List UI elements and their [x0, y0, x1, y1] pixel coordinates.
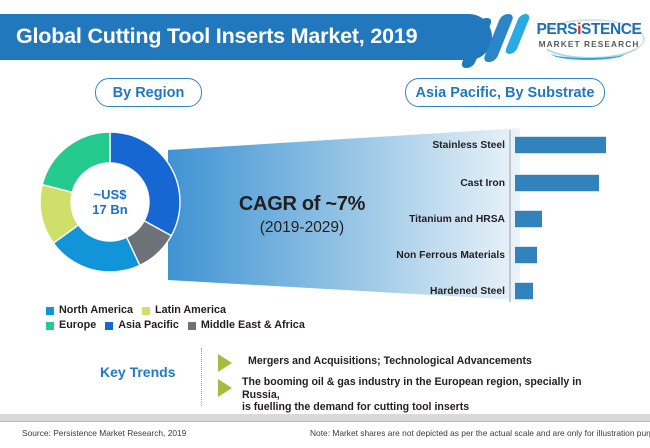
bar-row: Hardened Steel [392, 282, 650, 300]
legend-label-asia-pacific: Asia Pacific [118, 318, 179, 333]
legend-swatch-asia-pacific [105, 322, 113, 330]
footer-band [0, 414, 650, 421]
bar-label-hardened-steel: Hardened Steel [392, 286, 509, 297]
bar-row: Cast Iron [392, 174, 650, 192]
bar-row: Titanium and HRSA [392, 210, 650, 228]
key-trends-title: Key Trends [100, 364, 188, 380]
legend-label-middle-east-africa: Middle East & Africa [201, 318, 305, 333]
legend-label-europe: Europe [59, 318, 96, 333]
page-title: Global Cutting Tool Inserts Market, 2019 [16, 24, 476, 49]
legend-swatch-north-america [46, 307, 54, 315]
key-trends-section: Key Trends Mergers and Acquisitions; Tec… [100, 348, 620, 406]
header: Global Cutting Tool Inserts Market, 2019 [0, 14, 500, 60]
legend-swatch-latin-america [142, 307, 150, 315]
key-trend-item-1: Mergers and Acquisitions; Technological … [248, 355, 608, 368]
key-trend-item-2: The booming oil & gas industry in the Eu… [242, 376, 622, 414]
legend-item-europe: Europe [46, 318, 96, 333]
logo-subtitle: MARKET RESEARCH [533, 39, 645, 49]
cagr-text-block: CAGR of ~7% (2019-2029) [212, 193, 392, 237]
section-label-by-region: By Region [95, 78, 202, 107]
bar-label-titanium-and-hrsa: Titanium and HRSA [392, 214, 509, 225]
logo-word-part1: PERS [536, 21, 577, 38]
arrow-triangle-icon-1 [218, 354, 232, 372]
legend-row-2: Europe Asia Pacific Middle East & Africa [46, 318, 326, 333]
bar-stainless-steel [515, 136, 606, 154]
bar-titanium-and-hrsa [515, 210, 542, 228]
legend-item-middle-east-africa: Middle East & Africa [188, 318, 305, 333]
substrate-bar-chart: Stainless SteelCast IronTitanium and HRS… [392, 130, 650, 302]
legend-item-north-america: North America [46, 303, 133, 318]
company-logo: PERSiSTENCE MARKET RESEARCH [533, 17, 645, 59]
legend-swatch-europe [46, 322, 54, 330]
arrow-triangle-icon-2 [218, 379, 232, 397]
section-label-by-substrate: Asia Pacific, By Substrate [405, 78, 605, 107]
legend-label-north-america: North America [59, 303, 133, 318]
footer-divider [0, 421, 650, 422]
cagr-period: (2019-2029) [212, 219, 392, 237]
bar-row: Non Ferrous Materials [392, 246, 650, 264]
key-trends-divider [201, 348, 202, 406]
footer-source: Source: Persistence Market Research, 201… [22, 428, 186, 438]
logo-word-part2: STENCE [581, 21, 641, 38]
infographic-page: Global Cutting Tool Inserts Market, 2019… [0, 0, 650, 448]
logo-wordmark: PERSiSTENCE [533, 21, 645, 39]
bar-label-cast-iron: Cast Iron [392, 178, 509, 189]
donut-hole [71, 163, 149, 241]
legend-row-1: North America Latin America [46, 303, 326, 318]
region-donut-chart: ~US$ 17 Bn [36, 128, 184, 276]
legend-item-asia-pacific: Asia Pacific [105, 318, 179, 333]
bar-cast-iron [515, 174, 599, 192]
footer-note: Note: Market shares are not depicted as … [310, 428, 650, 438]
bar-non-ferrous-materials [515, 246, 537, 264]
legend-swatch-middle-east-africa [188, 322, 196, 330]
cagr-value: CAGR of ~7% [212, 193, 392, 216]
legend-label-latin-america: Latin America [155, 303, 226, 318]
region-legend: North America Latin America Europe Asia … [46, 303, 326, 333]
bar-label-stainless-steel: Stainless Steel [392, 140, 509, 151]
legend-item-latin-america: Latin America [142, 303, 226, 318]
bar-row: Stainless Steel [392, 136, 650, 154]
bar-hardened-steel [515, 282, 533, 300]
bar-label-non-ferrous-materials: Non Ferrous Materials [392, 250, 509, 261]
